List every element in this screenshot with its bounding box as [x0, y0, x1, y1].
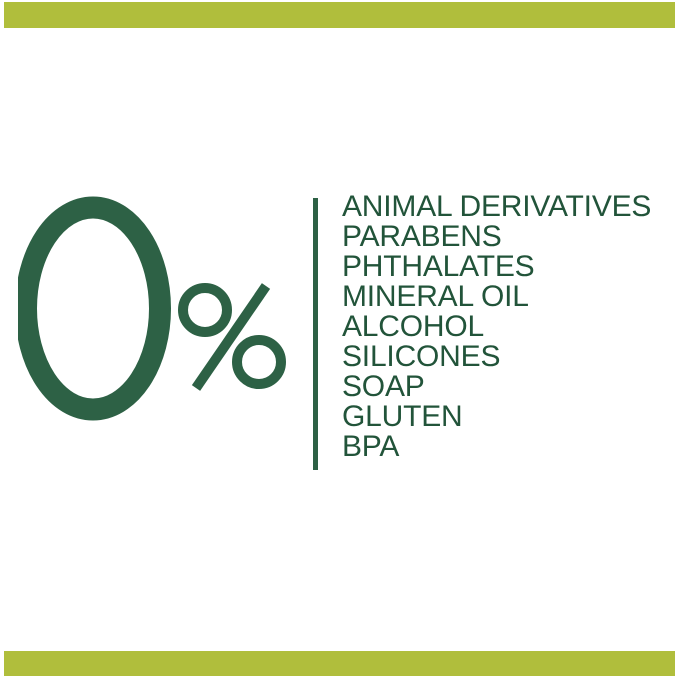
list-item: PARABENS: [342, 222, 679, 252]
list-item: MINERAL OIL: [342, 282, 679, 312]
list-item: ANIMAL DERIVATIVES: [342, 192, 679, 222]
product-claims-graphic: ANIMAL DERIVATIVES PARABENS PHTHALATES M…: [0, 0, 679, 679]
claims-content-row: ANIMAL DERIVATIVES PARABENS PHTHALATES M…: [0, 180, 679, 500]
list-item: SOAP: [342, 372, 679, 402]
bottom-accent-bar: [4, 651, 675, 676]
vertical-divider: [313, 198, 318, 470]
zero-glyph: [26, 208, 160, 410]
list-item: ALCOHOL: [342, 312, 679, 342]
list-item: BPA: [342, 432, 679, 462]
list-item: SILICONES: [342, 342, 679, 372]
list-item: PHTHALATES: [342, 252, 679, 282]
zero-percent-headline: [18, 180, 298, 480]
zero-percent-icon: [18, 180, 298, 480]
free-from-claims-list: ANIMAL DERIVATIVES PARABENS PHTHALATES M…: [342, 192, 679, 462]
percent-glyph: [183, 286, 281, 388]
top-accent-bar: [4, 2, 675, 28]
list-item: GLUTEN: [342, 402, 679, 432]
